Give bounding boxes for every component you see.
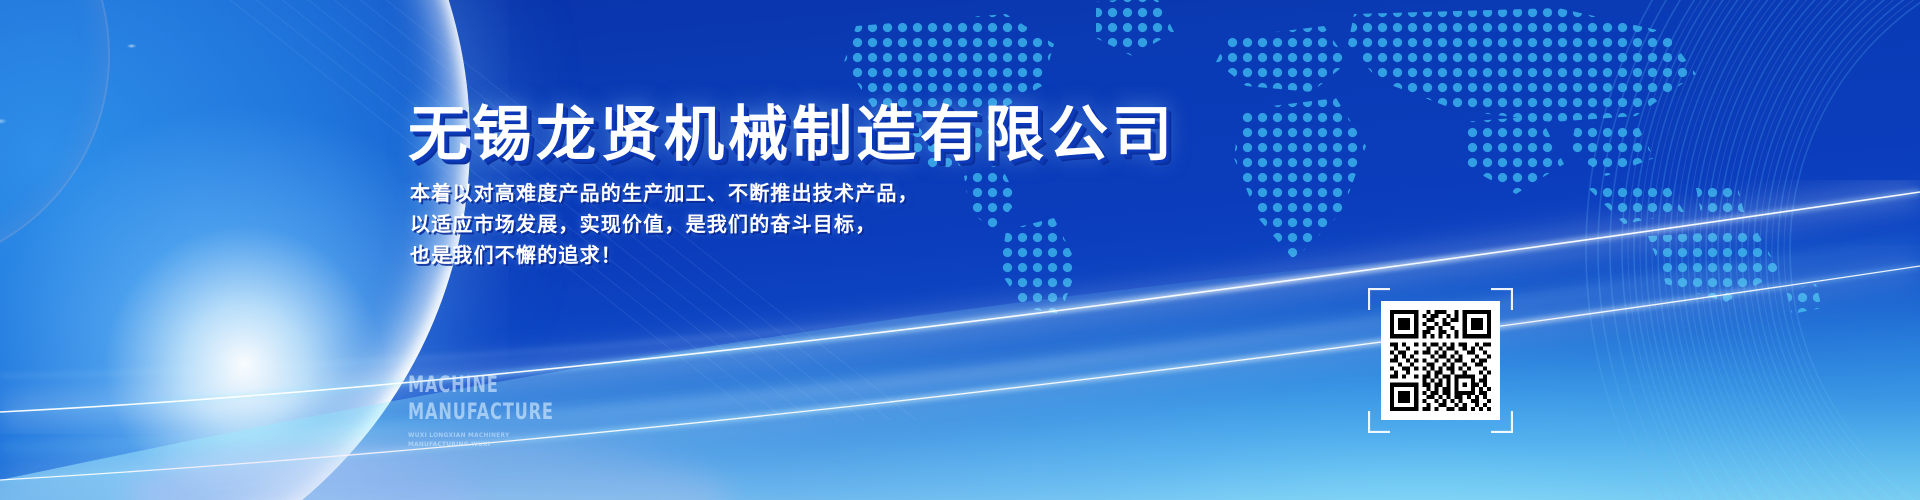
english-line-small: WUXI LONGXIAN MACHINERY MANUFACTURING.WU… — [408, 431, 530, 448]
english-line-machine: MACHINE — [408, 372, 554, 399]
company-slogan: 本着以对高难度产品的生产加工、不断推出技术产品， 以适应市场发展，实现价值，是我… — [410, 178, 919, 271]
english-subbrand: MACHINE MANUFACTURE WUXI LONGXIAN MACHIN… — [408, 372, 586, 448]
qr-code-card — [1381, 301, 1500, 420]
slogan-line-1: 本着以对高难度产品的生产加工、不断推出技术产品， — [410, 178, 919, 209]
qr-code-block[interactable] — [1368, 288, 1513, 433]
qr-code-image — [1390, 310, 1491, 411]
banner-content: 无锡龙贤机械制造有限公司 本着以对高难度产品的生产加工、不断推出技术产品， 以适… — [0, 0, 1920, 500]
company-banner: 无锡龙贤机械制造有限公司 本着以对高难度产品的生产加工、不断推出技术产品， 以适… — [0, 0, 1920, 500]
slogan-line-2: 以适应市场发展，实现价值，是我们的奋斗目标， — [410, 209, 919, 240]
company-title: 无锡龙贤机械制造有限公司 — [408, 86, 1176, 173]
slogan-line-3: 也是我们不懈的追求！ — [410, 240, 919, 271]
english-line-manufacture: MANUFACTURE — [408, 399, 554, 426]
